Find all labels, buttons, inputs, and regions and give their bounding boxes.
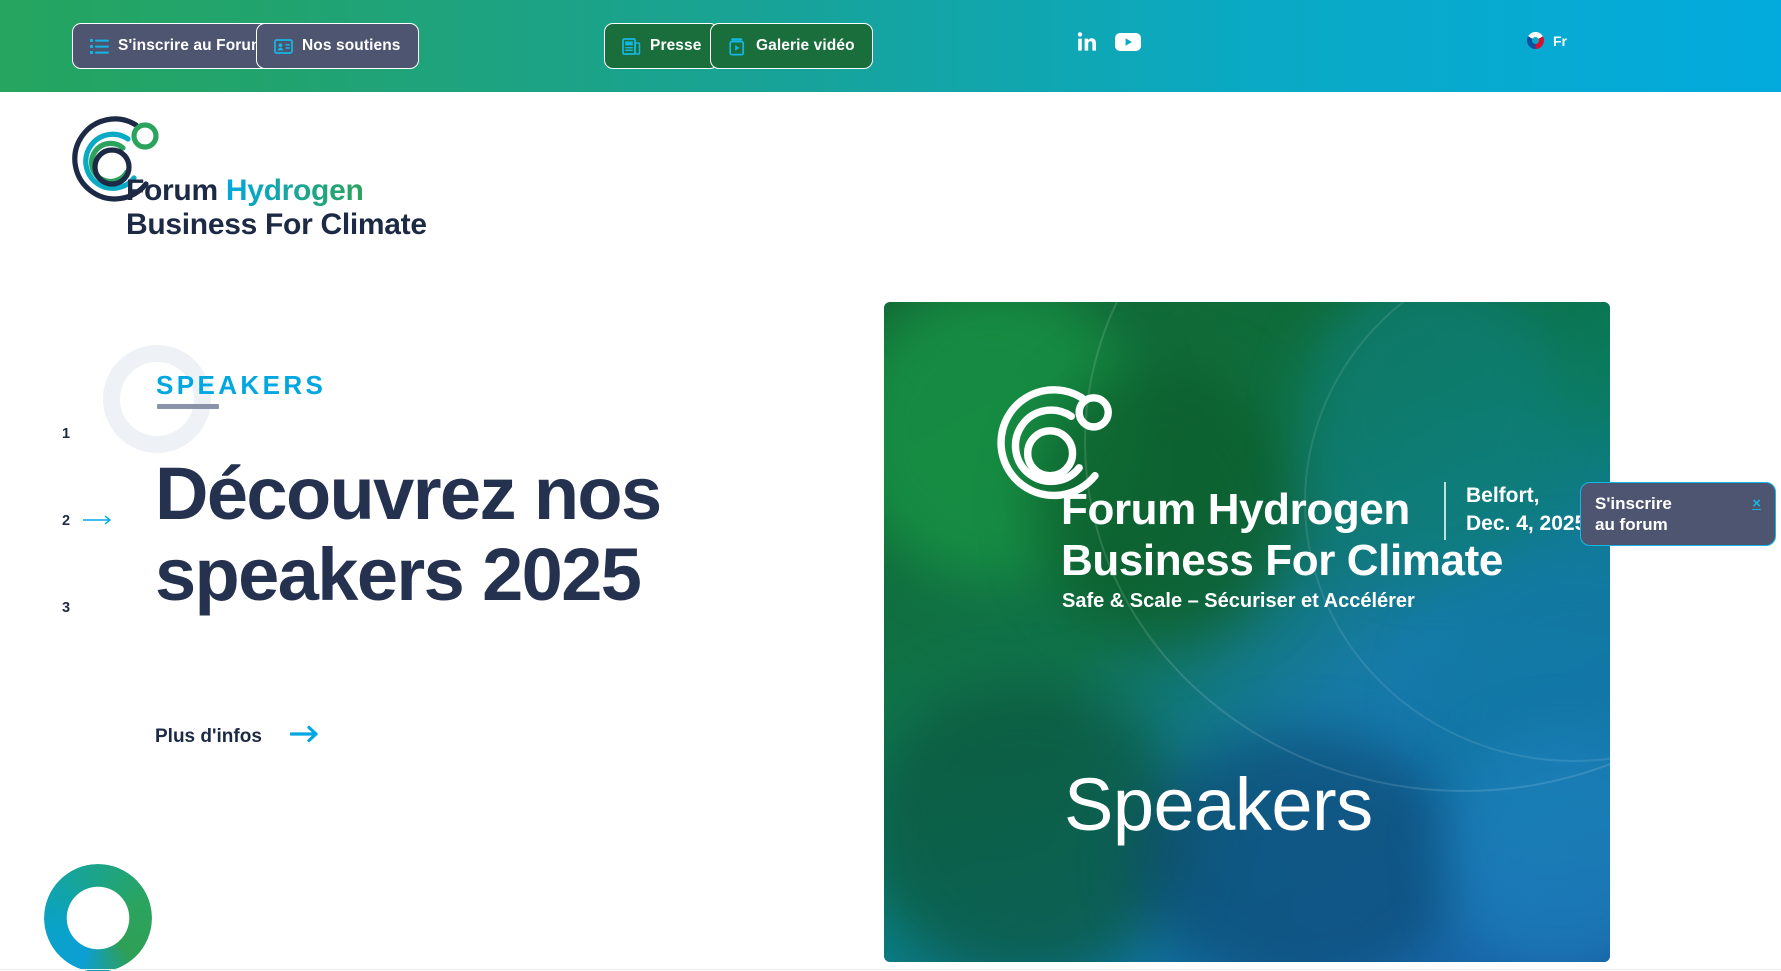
- card-brand-line2: Business For Climate: [1061, 536, 1503, 585]
- card-brand-line1: Forum Hydrogen: [1061, 485, 1410, 534]
- logo-word-hydrogen: Hydrogen: [226, 174, 364, 207]
- pagination-item-3[interactable]: 3: [62, 596, 122, 620]
- press-label: Presse: [650, 37, 701, 55]
- more-info-label: Plus d'infos: [155, 726, 262, 748]
- supporters-label: Nos soutiens: [302, 37, 401, 55]
- hero-image-card[interactable]: Forum Hydrogen Business For Climate Belf…: [884, 302, 1610, 962]
- slider-pagination: 1 2 3: [62, 422, 122, 683]
- arrow-right-icon: [83, 512, 113, 530]
- arrow-right-icon: [290, 724, 320, 749]
- newspaper-icon: [622, 37, 641, 56]
- video-icon: [728, 37, 747, 56]
- pagination-number: 2: [62, 513, 73, 529]
- pagination-number: 3: [62, 600, 73, 616]
- site-logo[interactable]: Forum Hydrogen Business For Climate: [68, 110, 378, 238]
- register-widget-line1: S'inscrire: [1595, 494, 1715, 515]
- video-gallery-button[interactable]: Galerie vidéo: [710, 23, 873, 69]
- register-widget-label: S'inscrire au forum: [1595, 494, 1715, 536]
- linkedin-icon[interactable]: [1076, 30, 1100, 59]
- youtube-icon[interactable]: [1114, 31, 1142, 58]
- language-selector[interactable]: Fr: [1527, 32, 1567, 49]
- id-card-icon: [274, 37, 293, 56]
- hero-kicker: SPEAKERS: [156, 370, 326, 401]
- hero-headline-line1: Découvrez nos: [155, 454, 775, 535]
- list-icon: [90, 37, 109, 56]
- card-tagline: Safe & Scale – Sécuriser et Accélérer: [1062, 590, 1415, 613]
- page-root: S'inscrire au Forum Nos soutiens: [0, 0, 1781, 971]
- card-venue-city: Belfort,: [1466, 482, 1586, 510]
- site-logo-text: Forum Hydrogen Business For Climate: [126, 174, 427, 242]
- decorative-gradient-ring: [44, 864, 152, 971]
- video-gallery-label: Galerie vidéo: [756, 37, 855, 55]
- hero-kicker-underline: [157, 404, 219, 409]
- language-label: Fr: [1553, 33, 1567, 49]
- french-flag-icon: [1527, 32, 1544, 49]
- site-header: Forum Hydrogen Business For Climate Belf…: [0, 92, 1781, 262]
- hero-headline: Découvrez nos speakers 2025: [155, 454, 775, 615]
- press-button[interactable]: Presse: [604, 23, 719, 69]
- card-venue-date: Dec. 4, 2025: [1466, 510, 1586, 538]
- supporters-button[interactable]: Nos soutiens: [256, 23, 419, 69]
- register-floating-widget[interactable]: S'inscrire au forum ×: [1580, 482, 1776, 546]
- register-forum-label: S'inscrire au Forum: [118, 37, 265, 55]
- close-icon[interactable]: ×: [1752, 495, 1761, 512]
- pagination-number: 1: [62, 426, 73, 442]
- hero-section: 1 2 3 SPEAKERS Découvrez nos: [0, 262, 1781, 971]
- register-forum-button[interactable]: S'inscrire au Forum: [72, 23, 283, 69]
- card-divider: [1444, 482, 1446, 540]
- register-widget-line2: au forum: [1595, 515, 1715, 536]
- top-utility-bar: S'inscrire au Forum Nos soutiens: [0, 0, 1781, 92]
- social-links: [1076, 30, 1142, 59]
- logo-word-forum: Forum: [126, 174, 226, 207]
- more-info-link[interactable]: Plus d'infos: [155, 724, 320, 749]
- pagination-item-2[interactable]: 2: [62, 509, 122, 533]
- card-venue: Belfort, Dec. 4, 2025: [1466, 482, 1586, 538]
- hero-bottom-divider: [0, 969, 1781, 970]
- card-caption: Speakers: [1064, 762, 1373, 847]
- logo-line-business: Business For Climate: [126, 208, 427, 241]
- hero-headline-line2: speakers 2025: [155, 535, 775, 616]
